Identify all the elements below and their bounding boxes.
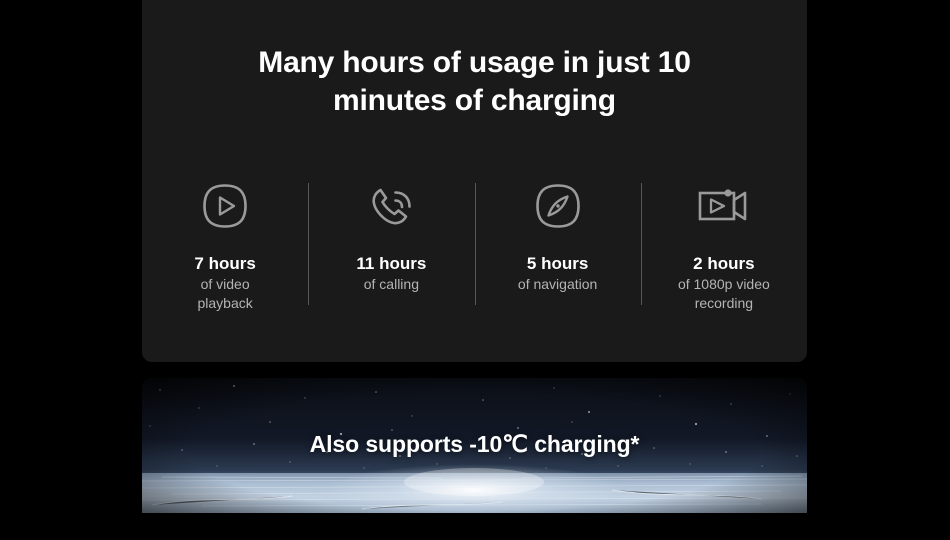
specs-row: 7 hours of video playback 11 hours of ca… <box>142 176 807 316</box>
video-recording-icon <box>695 178 753 234</box>
spec-label-line-1: of 1080p video <box>678 276 770 293</box>
spec-label-line-1: of calling <box>364 276 419 293</box>
spec-label-line-1: of video <box>201 276 250 293</box>
page-stage: Many hours of usage in just 10 minutes o… <box>0 0 950 540</box>
headline-line-2: minutes of charging <box>333 84 616 117</box>
spec-value: 7 hours <box>194 254 255 274</box>
spec-value: 2 hours <box>693 254 754 274</box>
spec-value: 11 hours <box>356 254 426 274</box>
spec-item-calling: 11 hours of calling <box>308 176 474 316</box>
spec-label-line-2: playback <box>197 295 252 312</box>
spec-item-video-recording: 2 hours of 1080p video recording <box>641 176 807 316</box>
spec-label-line-2: recording <box>695 295 753 312</box>
cold-charging-text: Also supports -10℃ charging* <box>142 431 807 458</box>
spec-label-line-1: of navigation <box>518 276 597 293</box>
phone-call-icon <box>365 178 417 234</box>
spec-item-video-playback: 7 hours of video playback <box>142 176 308 316</box>
battery-feature-card: Many hours of usage in just 10 minutes o… <box>142 0 807 362</box>
spec-item-navigation: 5 hours of navigation <box>475 176 641 316</box>
video-playback-icon <box>200 178 250 234</box>
cold-charging-banner: Also supports -10℃ charging* <box>142 378 807 513</box>
page-title: Many hours of usage in just 10 minutes o… <box>142 44 807 120</box>
spec-value: 5 hours <box>527 254 588 274</box>
navigation-compass-icon <box>533 178 583 234</box>
headline-line-1: Many hours of usage in just 10 <box>258 46 690 79</box>
